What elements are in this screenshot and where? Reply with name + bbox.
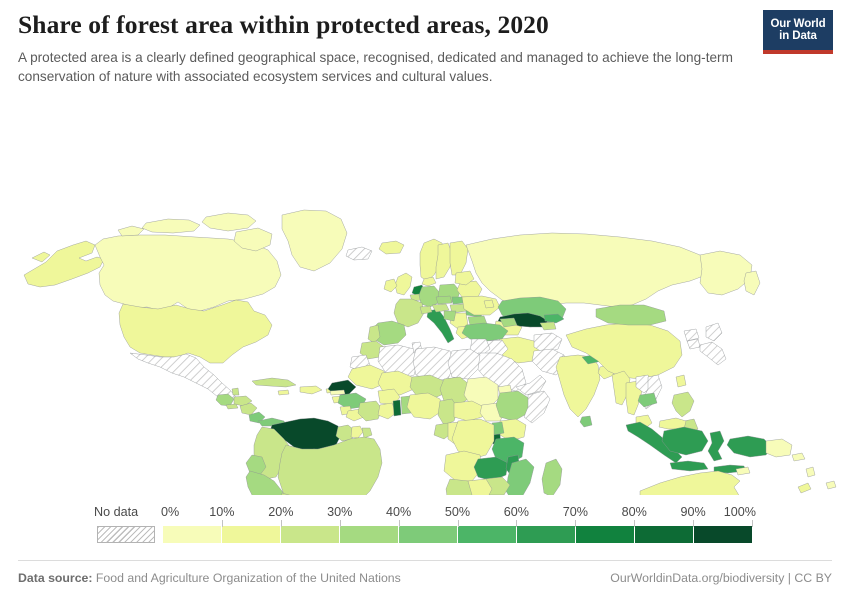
country-ireland[interactable] xyxy=(384,279,397,292)
legend-tickmark-5 xyxy=(458,520,459,527)
footer-separator: | xyxy=(788,571,791,585)
country-solomon-islands[interactable] xyxy=(792,453,805,461)
legend-tickmark-3 xyxy=(340,520,341,527)
legend-no-data-swatch[interactable] xyxy=(97,526,155,543)
legend-tickmark-2 xyxy=(281,520,282,527)
owid-logo-line2: in Data xyxy=(779,30,817,42)
legend-tick-70: 70% xyxy=(563,505,588,519)
legend-color-bar[interactable] xyxy=(163,526,752,543)
country-russia-kamchatka[interactable] xyxy=(744,271,760,295)
legend-tickmark-6 xyxy=(516,520,517,527)
country-japan[interactable] xyxy=(700,323,726,365)
country-egypt[interactable] xyxy=(448,349,480,379)
country-togo[interactable] xyxy=(393,400,401,416)
map-svg xyxy=(0,95,850,495)
country-croatia[interactable] xyxy=(444,311,456,321)
country-somalia[interactable] xyxy=(524,391,550,423)
legend-bin-0[interactable] xyxy=(163,526,222,543)
country-canada-arctic-2[interactable] xyxy=(202,213,256,231)
country-madagascar[interactable] xyxy=(542,459,562,495)
country-finland[interactable] xyxy=(450,241,468,275)
legend-bin-6[interactable] xyxy=(517,526,576,543)
country-moldova[interactable] xyxy=(484,300,494,308)
owid-chart-root: Share of forest area within protected ar… xyxy=(0,0,850,600)
legend-tickmark-1 xyxy=(222,520,223,527)
country-turkey[interactable] xyxy=(462,323,508,341)
legend-tick-30: 30% xyxy=(327,505,352,519)
country-canada-arctic-3[interactable] xyxy=(118,226,144,236)
footer-attribution: OurWorldinData.org/biodiversity | CC BY xyxy=(610,571,832,585)
legend-tick-100: 100% xyxy=(724,505,756,519)
country-cuba[interactable] xyxy=(252,378,296,387)
country-suriname[interactable] xyxy=(351,426,363,438)
legend-tick-10: 10% xyxy=(209,505,234,519)
legend-bin-5[interactable] xyxy=(458,526,517,543)
legend-tickmark-7 xyxy=(575,520,576,527)
country-french-guiana[interactable] xyxy=(362,428,372,438)
legend-bin-4[interactable] xyxy=(399,526,458,543)
legend-tick-80: 80% xyxy=(622,505,647,519)
country-namibia[interactable] xyxy=(446,479,472,495)
legend-tickmark-4 xyxy=(399,520,400,527)
footer-divider xyxy=(18,560,832,561)
footer-license[interactable]: CC BY xyxy=(794,571,832,585)
country-india[interactable] xyxy=(556,355,600,417)
legend-bin-9[interactable] xyxy=(694,526,752,543)
country-tajikistan[interactable] xyxy=(540,322,556,330)
footer-source: Data source: Food and Agriculture Organi… xyxy=(18,571,401,585)
legend-tick-40: 40% xyxy=(386,505,411,519)
country-united-kingdom[interactable] xyxy=(395,273,412,295)
footer-url[interactable]: OurWorldinData.org/biodiversity xyxy=(610,571,784,585)
legend-tickmark-10 xyxy=(752,520,753,527)
country-zambia[interactable] xyxy=(474,457,508,481)
legend-tickmark-9 xyxy=(693,520,694,527)
country-indonesia-papua[interactable] xyxy=(727,436,772,457)
legend-bin-3[interactable] xyxy=(340,526,399,543)
footer-source-value: Food and Agriculture Organization of the… xyxy=(96,571,401,585)
country-russia-east[interactable] xyxy=(700,251,752,295)
legend-tick-20: 20% xyxy=(268,505,293,519)
country-papua-new-guinea[interactable] xyxy=(766,439,792,457)
legend-bin-1[interactable] xyxy=(222,526,281,543)
page-title: Share of forest area within protected ar… xyxy=(18,10,832,40)
country-fiji[interactable] xyxy=(826,481,836,489)
owid-logo[interactable]: Our World in Data xyxy=(763,10,833,54)
country-jamaica[interactable] xyxy=(278,390,289,395)
country-france[interactable] xyxy=(394,299,424,327)
legend-tick-0: 0% xyxy=(161,505,179,519)
map-countries-layer xyxy=(0,95,836,495)
legend-bin-8[interactable] xyxy=(635,526,694,543)
chart-subtitle: A protected area is a clearly defined ge… xyxy=(18,48,733,86)
legend-tick-60: 60% xyxy=(504,505,529,519)
country-gambia[interactable] xyxy=(330,390,345,395)
legend-tickmark-8 xyxy=(634,520,635,527)
country-indonesia-sulawesi[interactable] xyxy=(708,431,724,461)
legend-bin-7[interactable] xyxy=(576,526,635,543)
owid-logo-line1: Our World xyxy=(770,18,825,30)
country-hispaniola[interactable] xyxy=(300,386,322,394)
country-new-caledonia[interactable] xyxy=(798,483,811,493)
country-russia[interactable] xyxy=(466,233,712,307)
country-czechia[interactable] xyxy=(436,296,452,304)
country-iceland-shape[interactable] xyxy=(346,247,372,260)
country-south-korea[interactable] xyxy=(687,339,700,349)
legend-no-data-label: No data xyxy=(94,505,138,519)
country-alaska[interactable] xyxy=(24,241,104,287)
country-sweden[interactable] xyxy=(436,243,452,279)
country-greenland[interactable] xyxy=(282,210,347,271)
legend-bin-2[interactable] xyxy=(281,526,340,543)
chart-header: Share of forest area within protected ar… xyxy=(18,10,832,92)
country-el-salvador[interactable] xyxy=(226,404,238,409)
footer-source-label: Data source: xyxy=(18,571,93,585)
legend-tick-50: 50% xyxy=(445,505,470,519)
country-cambodia[interactable] xyxy=(638,393,657,407)
map-legend: 0%10%20%30%40%50%60%70%80%90%100% No dat… xyxy=(0,505,850,551)
country-belize[interactable] xyxy=(232,388,239,395)
country-iceland2[interactable] xyxy=(379,241,404,254)
legend-tick-90: 90% xyxy=(680,505,705,519)
chart-footer: Data source: Food and Agriculture Organi… xyxy=(18,568,832,588)
world-choropleth-map[interactable] xyxy=(0,95,850,495)
country-canada-arctic-1[interactable] xyxy=(142,219,200,233)
country-taiwan[interactable] xyxy=(676,375,686,387)
country-vanuatu[interactable] xyxy=(806,467,815,477)
country-sri-lanka[interactable] xyxy=(580,416,592,427)
country-australia[interactable] xyxy=(640,471,750,495)
country-mongolia[interactable] xyxy=(596,305,666,325)
country-indonesia-java[interactable] xyxy=(670,461,708,471)
country-libya[interactable] xyxy=(413,347,454,381)
